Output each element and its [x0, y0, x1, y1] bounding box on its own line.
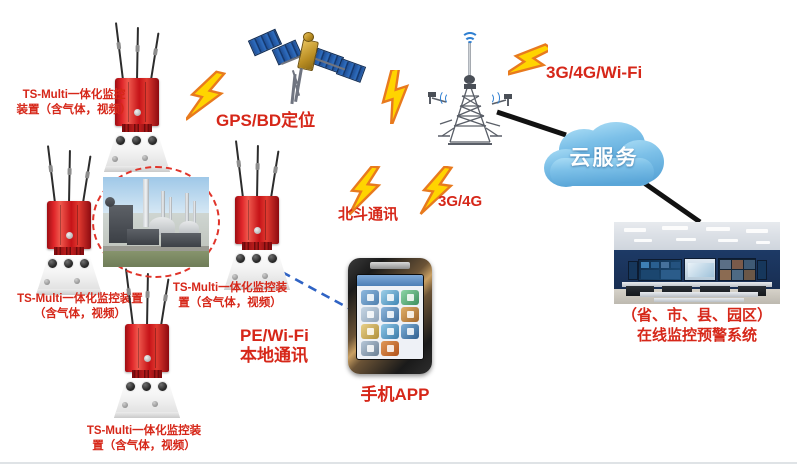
- diagram-canvas: TS-Multi一体化监控 装置（含气体，视频） TS-Multi一体化监控装置…: [0, 0, 797, 464]
- app-icon[interactable]: [401, 324, 419, 339]
- sensor-port-icon: [251, 253, 262, 264]
- label-3g4g-wifi: 3G/4G/Wi-Fi: [546, 62, 696, 84]
- antenna-icon: [125, 268, 134, 326]
- label-device-bottom-left: TS-Multi一体化监控装 置（含气体，视频）: [66, 424, 222, 453]
- lightning-bolt-tower-wireless: [508, 38, 548, 88]
- label-3g4g: 3G/4G: [438, 192, 518, 211]
- video-wall-screen: [638, 259, 682, 281]
- indicator-dot-icon: [112, 156, 118, 162]
- app-icon[interactable]: [381, 290, 399, 305]
- sensor-port-icon: [157, 381, 168, 392]
- app-icon[interactable]: [401, 290, 419, 305]
- industrial-plant-photo: [103, 177, 209, 267]
- label-control-center: （省、市、县、园区） 在线监控预警系统: [598, 306, 796, 347]
- sensor-port-icon: [47, 258, 58, 269]
- video-wall-screen: [718, 258, 756, 281]
- antenna-icon: [235, 140, 244, 198]
- indicator-dot-icon: [44, 279, 50, 285]
- app-icon: [401, 341, 419, 356]
- cloud-service-label: 云服务: [540, 141, 668, 171]
- label-device-top-left: TS-Multi一体化监控 装置（含气体，视频）: [0, 88, 148, 117]
- antenna-icon: [136, 27, 139, 81]
- app-icon[interactable]: [381, 307, 399, 322]
- sensor-port-icon: [63, 258, 74, 269]
- antenna-icon: [68, 150, 71, 204]
- app-icon[interactable]: [361, 290, 379, 305]
- indicator-dot-icon: [122, 402, 128, 408]
- antenna-icon: [82, 155, 91, 203]
- app-icon[interactable]: [381, 341, 399, 356]
- lightning-bolt-satellite-tower: [376, 70, 416, 124]
- antenna-icon: [160, 278, 169, 326]
- device-screen[interactable]: [356, 274, 424, 360]
- indicator-dot-icon: [262, 273, 268, 279]
- video-wall-screen: [628, 261, 638, 280]
- signal-wave-icon: [486, 93, 494, 104]
- cloud-service-node[interactable]: 云服务: [540, 120, 668, 194]
- label-gps-bd: GPS/BD定位: [216, 110, 346, 132]
- antenna-icon: [115, 22, 124, 80]
- sensor-port-icon: [131, 135, 142, 146]
- satellite-icon: [248, 12, 370, 108]
- video-wall-screen: [684, 258, 716, 281]
- app-icon[interactable]: [361, 341, 379, 356]
- mobile-app-device[interactable]: [348, 258, 432, 374]
- indicator-dot-icon: [74, 278, 80, 284]
- indicator-dot-icon: [232, 274, 238, 280]
- monitoring-device-mid-center[interactable]: [218, 140, 296, 290]
- control-center-photo: [614, 222, 780, 304]
- antenna-icon: [270, 150, 279, 198]
- sensor-port-icon: [141, 381, 152, 392]
- video-wall-screen: [757, 260, 767, 280]
- sensor-port-icon: [115, 135, 126, 146]
- signal-wave-icon: [445, 93, 453, 104]
- app-grid[interactable]: [360, 289, 420, 357]
- device-housing: [125, 324, 169, 372]
- status-bar: [357, 275, 423, 286]
- app-icon[interactable]: [401, 307, 419, 322]
- antenna-icon: [256, 145, 259, 199]
- antenna-icon: [150, 32, 159, 80]
- speaker-grille-icon: [370, 262, 410, 269]
- cell-tower-icon: [424, 24, 516, 152]
- app-icon[interactable]: [361, 324, 379, 339]
- sensor-port-icon: [147, 135, 158, 146]
- sensor-port-icon: [125, 381, 136, 392]
- sensor-port-icon: [235, 253, 246, 264]
- sensor-port-icon: [267, 253, 278, 264]
- device-housing: [47, 201, 91, 249]
- device-housing: [235, 196, 279, 244]
- antenna-icon: [47, 145, 56, 203]
- app-icon[interactable]: [381, 324, 399, 339]
- app-icon[interactable]: [361, 307, 379, 322]
- label-mobile-app: 手机APP: [340, 384, 450, 406]
- indicator-dot-icon: [152, 401, 158, 407]
- antenna-icon: [146, 273, 149, 327]
- label-local-comm: PE/Wi-Fi 本地通讯: [240, 326, 352, 366]
- label-beidou: 北斗通讯: [338, 205, 426, 224]
- indicator-dot-icon: [142, 155, 148, 161]
- sensor-port-icon: [79, 258, 90, 269]
- monitoring-device-bottom-left[interactable]: [108, 268, 186, 418]
